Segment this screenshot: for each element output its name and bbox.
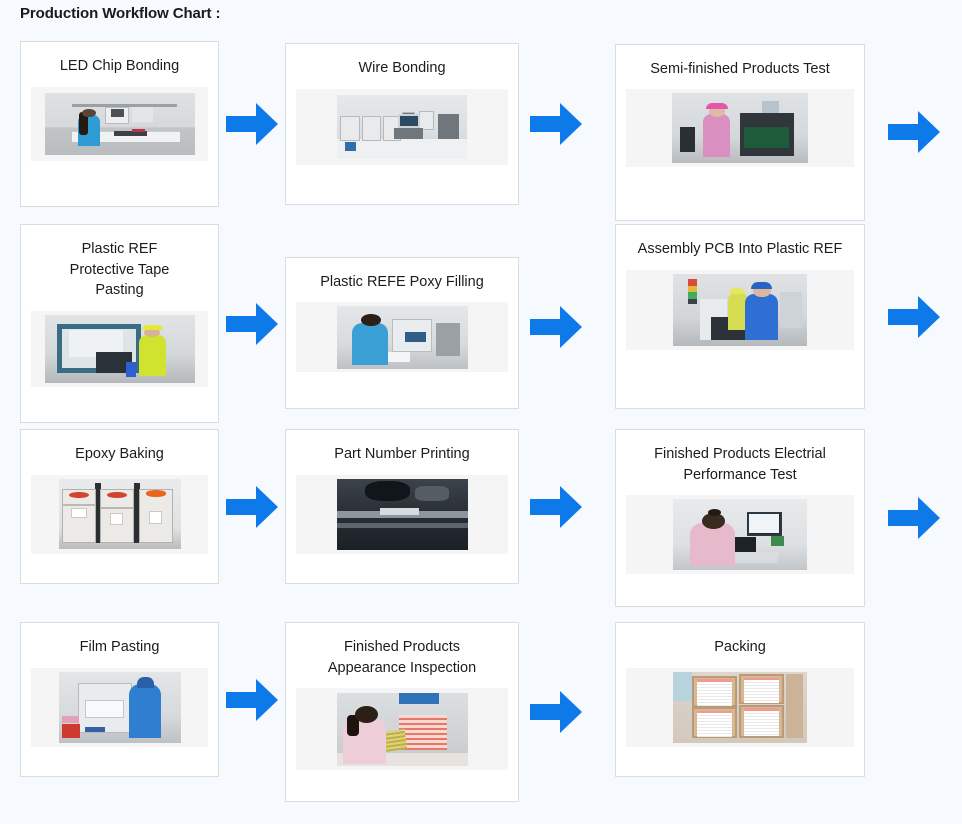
step-thumbnail — [626, 495, 854, 574]
step-thumbnail — [626, 668, 854, 747]
workflow-step-card[interactable]: Part Number Printing — [285, 429, 519, 584]
workflow-step-card[interactable]: Wire Bonding — [285, 43, 519, 205]
workflow-grid: LED Chip Bonding Wire Bondi — [0, 40, 962, 812]
step-label: Finished Products Appearance Inspection — [300, 637, 505, 688]
step-thumbnail — [626, 89, 854, 167]
workflow-step-card[interactable]: Finished Products Appearance Inspection — [285, 622, 519, 802]
step-thumbnail — [296, 302, 508, 372]
step-label: Packing — [710, 637, 770, 668]
step-label: Epoxy Baking — [71, 444, 168, 475]
workflow-row-2: Plastic REF Protective Tape Pasting Plas… — [0, 224, 962, 429]
step-label: Assembly PCB Into Plastic REF — [628, 239, 853, 270]
workflow-step-card[interactable]: Plastic REF Protective Tape Pasting — [20, 224, 219, 423]
workflow-row-4: Film Pasting Finished Products Appearanc… — [0, 622, 962, 812]
right-arrow-icon — [519, 429, 593, 584]
step-thumbnail — [626, 270, 854, 350]
right-arrow-icon — [219, 622, 285, 777]
right-arrow-icon — [519, 103, 593, 145]
workflow-step-card[interactable]: Semi-finished Products Test — [615, 44, 865, 221]
step-label: Plastic REF Protective Tape Pasting — [45, 239, 195, 311]
step-thumbnail — [296, 89, 508, 165]
workflow-step-card[interactable]: Plastic REFE Poxy Filling — [285, 257, 519, 409]
workflow-step-card[interactable]: Assembly PCB Into Plastic REF — [615, 224, 865, 409]
right-arrow-icon — [219, 224, 285, 423]
step-thumbnail — [296, 475, 508, 554]
right-arrow-icon — [219, 103, 285, 145]
workflow-step-card[interactable]: Film Pasting — [20, 622, 219, 777]
workflow-row-1: LED Chip Bonding Wire Bondi — [0, 40, 962, 224]
step-label: LED Chip Bonding — [56, 56, 183, 87]
workflow-row-3: Epoxy Baking — [0, 429, 962, 622]
workflow-step-card[interactable]: Epoxy Baking — [20, 429, 219, 584]
workflow-step-card[interactable]: LED Chip Bonding — [20, 41, 219, 207]
right-arrow-icon — [865, 224, 962, 409]
right-arrow-icon — [865, 429, 962, 607]
right-arrow-icon — [219, 429, 285, 584]
right-arrow-icon — [519, 227, 593, 426]
step-label: Part Number Printing — [330, 444, 473, 475]
step-thumbnail — [31, 668, 208, 747]
workflow-step-card[interactable]: Packing — [615, 622, 865, 777]
page-title: Production Workflow Chart : — [20, 5, 220, 22]
step-thumbnail — [31, 87, 208, 161]
step-thumbnail — [296, 688, 508, 770]
step-label: Plastic REFE Poxy Filling — [316, 272, 488, 303]
step-label: Film Pasting — [76, 637, 164, 668]
step-label: Semi-finished Products Test — [633, 59, 848, 90]
step-label: Finished Products Electrial Performance … — [625, 444, 855, 495]
workflow-step-card[interactable]: Finished Products Electrial Performance … — [615, 429, 865, 607]
step-thumbnail — [31, 311, 208, 387]
step-label: Wire Bonding — [354, 58, 449, 89]
right-arrow-icon — [865, 111, 962, 153]
step-thumbnail — [31, 475, 208, 554]
right-arrow-icon — [519, 622, 593, 802]
